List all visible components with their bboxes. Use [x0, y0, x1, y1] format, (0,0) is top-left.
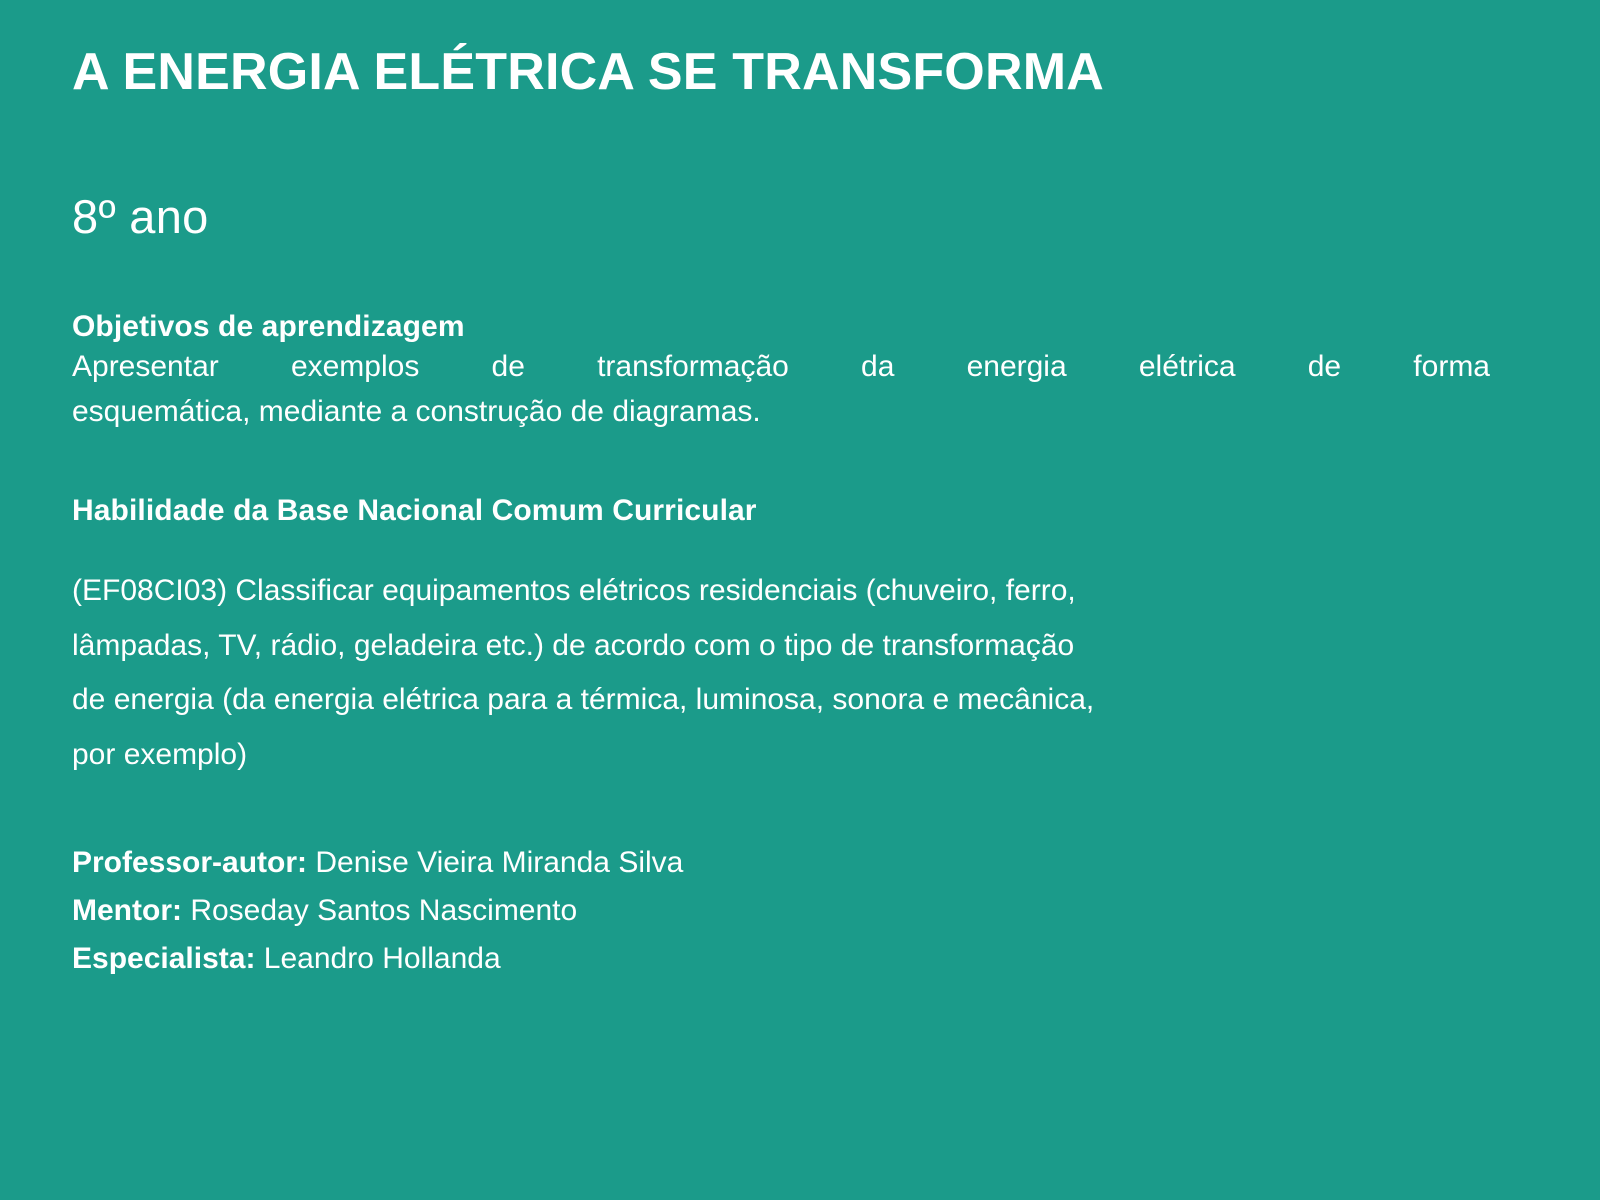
- grade-level-subtitle: 8º ano: [72, 191, 1528, 243]
- credit-value-mentor: Roseday Santos Nascimento: [190, 894, 577, 927]
- bncc-line-3: de energia (da energia elétrica para a t…: [72, 673, 1502, 728]
- credits-section: Professor-autor: Denise Vieira Miranda S…: [72, 839, 1528, 983]
- objectives-line-1: Apresentar exemplos de transformação da …: [72, 345, 1490, 389]
- bncc-skill-body: (EF08CI03) Classificar equipamentos elét…: [72, 564, 1502, 784]
- bncc-line-2: lâmpadas, TV, rádio, geladeira etc.) de …: [72, 619, 1502, 674]
- objectives-line-2: esquemática, mediante a construção de di…: [72, 390, 1490, 434]
- credit-row-mentor: Mentor: Roseday Santos Nascimento: [72, 887, 1528, 935]
- bncc-line-4: por exemplo): [72, 728, 1502, 783]
- credit-value-especialista: Leandro Hollanda: [264, 942, 501, 975]
- credit-row-professor-autor: Professor-autor: Denise Vieira Miranda S…: [72, 839, 1528, 887]
- slide-root: A ENERGIA ELÉTRICA SE TRANSFORMA 8º ano …: [0, 0, 1600, 1200]
- credit-label-professor-autor: Professor-autor:: [72, 846, 307, 879]
- bncc-line-1: (EF08CI03) Classificar equipamentos elét…: [72, 564, 1502, 619]
- credit-row-especialista: Especialista: Leandro Hollanda: [72, 935, 1528, 983]
- page-title: A ENERGIA ELÉTRICA SE TRANSFORMA: [72, 0, 1528, 101]
- learning-objectives-heading: Objetivos de aprendizagem: [72, 308, 1528, 346]
- credit-label-especialista: Especialista:: [72, 942, 255, 975]
- bncc-skill-heading: Habilidade da Base Nacional Comum Curric…: [72, 492, 1528, 530]
- learning-objectives-section: Objetivos de aprendizagem Apresentar exe…: [72, 308, 1528, 434]
- credit-value-professor-autor: Denise Vieira Miranda Silva: [315, 846, 683, 879]
- credit-label-mentor: Mentor:: [72, 894, 182, 927]
- learning-objectives-body: Apresentar exemplos de transformação da …: [72, 345, 1490, 434]
- bncc-skill-section: Habilidade da Base Nacional Comum Curric…: [72, 492, 1528, 783]
